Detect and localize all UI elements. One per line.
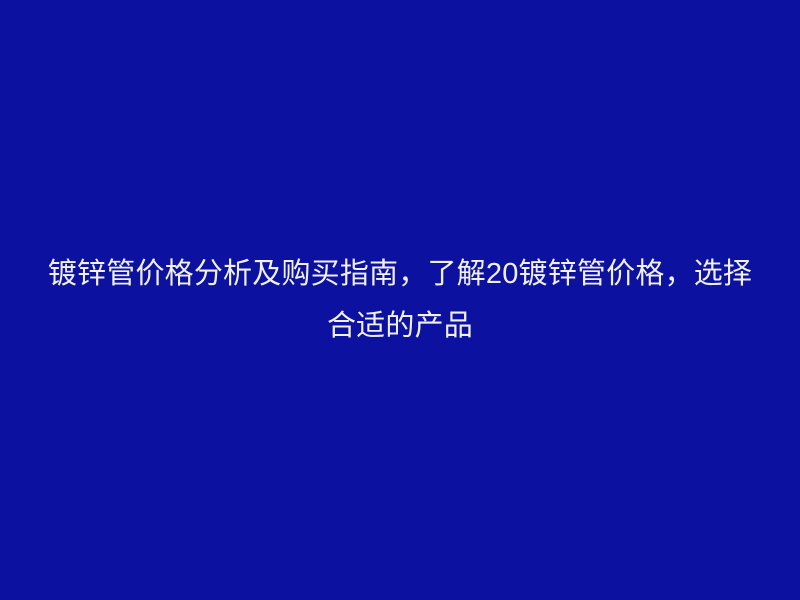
page-title: 镀锌管价格分析及购买指南，了解20镀锌管价格，选择合适的产品 (44, 248, 756, 352)
banner-canvas: 镀锌管价格分析及购买指南，了解20镀锌管价格，选择合适的产品 (0, 0, 800, 600)
headline-block: 镀锌管价格分析及购买指南，了解20镀锌管价格，选择合适的产品 (44, 248, 756, 352)
